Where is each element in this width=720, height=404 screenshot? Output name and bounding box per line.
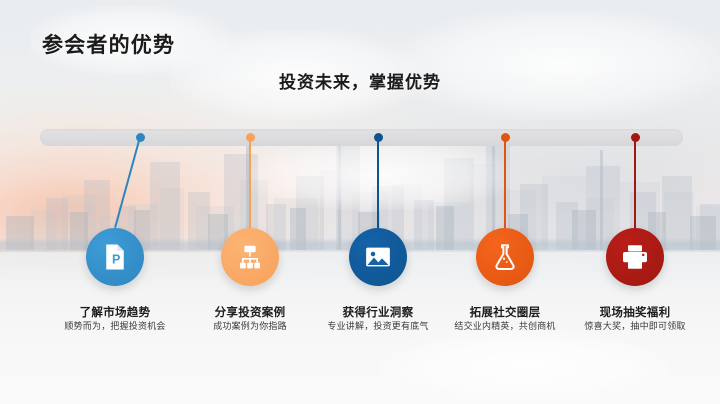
timeline-node-dot[interactable] [136, 133, 145, 142]
timeline-item-label: 了解市场趋势 [45, 304, 185, 320]
timeline-connector-line [377, 137, 379, 228]
timeline-node-dot[interactable] [374, 133, 383, 142]
timeline-node-dot[interactable] [501, 133, 510, 142]
timeline-item-description: 惊喜大奖，抽中即可领取 [578, 320, 692, 334]
timeline-connector-line [249, 137, 251, 228]
timeline-item-description: 成功案例为你指路 [193, 320, 307, 334]
page-title: 参会者的优势 [42, 29, 175, 59]
timeline-item-label: 分享投资案例 [180, 304, 320, 320]
timeline-item-label: 拓展社交圈层 [435, 304, 575, 320]
timeline-node-dot[interactable] [631, 133, 640, 142]
slide-canvas: 参会者的优势 投资未来，掌握优势 P了解市场趋势顺势而为，把握投资机会分享投资案… [0, 0, 720, 404]
image-icon [363, 242, 393, 272]
timeline-item-description: 结交业内精英，共创商机 [448, 320, 562, 334]
timeline-icon-bubble[interactable]: P [86, 228, 144, 286]
page-subtitle: 投资未来，掌握优势 [0, 68, 720, 93]
timeline-icon-bubble[interactable] [476, 228, 534, 286]
printer-icon [620, 242, 650, 272]
timeline-connector-line [634, 137, 636, 228]
sitemap-icon [235, 242, 265, 272]
timeline-icon-bubble[interactable] [606, 228, 664, 286]
svg-text:P: P [112, 252, 120, 266]
file-powerpoint-icon: P [100, 242, 130, 272]
timeline-item-label: 现场抽奖福利 [565, 304, 705, 320]
flask-icon [490, 242, 520, 272]
timeline-item-label: 获得行业洞察 [308, 304, 448, 320]
timeline-item-description: 顺势而为，把握投资机会 [58, 320, 172, 334]
timeline-icon-bubble[interactable] [221, 228, 279, 286]
timeline-icon-bubble[interactable] [349, 228, 407, 286]
timeline-item-description: 专业讲解，投资更有底气 [321, 320, 435, 334]
timeline-connector-line [504, 137, 506, 228]
timeline-node-dot[interactable] [246, 133, 255, 142]
